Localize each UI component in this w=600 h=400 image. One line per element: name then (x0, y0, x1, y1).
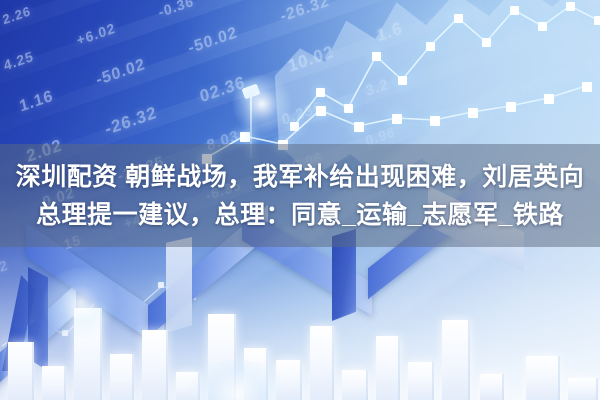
bar (408, 362, 434, 400)
bar (376, 336, 400, 400)
bar (42, 366, 66, 400)
bar (526, 356, 560, 400)
bar (480, 374, 504, 400)
image-canvas: -1.25 2.26 -0.33 -11.25 +5.02 21.15 1.25… (0, 0, 600, 400)
bar (142, 330, 168, 400)
headline-line-1: 深圳配资 朝鲜战场，我军补给出现困难，刘居英向 (16, 159, 584, 195)
bar (110, 354, 134, 400)
bar (568, 378, 598, 400)
headline-line-2: 总理提一建议，总理：同意_运输_志愿军_铁路 (36, 197, 564, 233)
bar (342, 370, 368, 400)
headline: 深圳配资 朝鲜战场，我军补给出现困难，刘居英向 总理提一建议，总理：同意_运输_… (0, 144, 600, 247)
bar (8, 342, 34, 400)
lens-flare (232, 74, 292, 134)
bar (442, 320, 470, 400)
lens-flare (40, 268, 120, 338)
